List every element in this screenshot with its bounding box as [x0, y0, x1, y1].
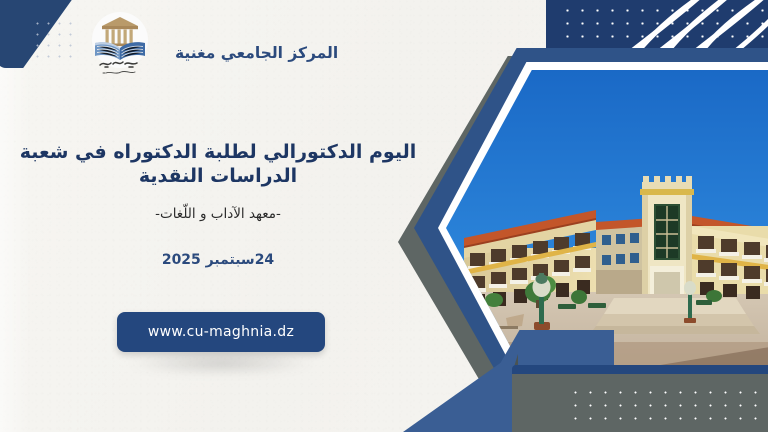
bottom-grey-band [512, 374, 768, 432]
university-crest-logo [84, 6, 156, 82]
university-name-label: المركز الجامعي مغنية [175, 44, 338, 62]
page-title: اليوم الدكتورالي لطلبة الدكتوراه في شعبة… [8, 141, 428, 189]
bottom-blue-strip [512, 365, 768, 374]
page-subtitle: -معهد الآداب و اللّغات- [8, 206, 428, 222]
bottom-right-dot-grid-icon [568, 386, 758, 428]
poster-canvas: المركز الجامعي مغنية اليوم الدكتورالي لط… [0, 0, 768, 432]
top-left-dot-grid-icon [32, 18, 76, 64]
event-date: 24سبتمبر 2025 [8, 252, 428, 268]
website-url-button[interactable]: www.cu-maghnia.dz [117, 312, 325, 352]
url-button-shadow [126, 352, 316, 374]
